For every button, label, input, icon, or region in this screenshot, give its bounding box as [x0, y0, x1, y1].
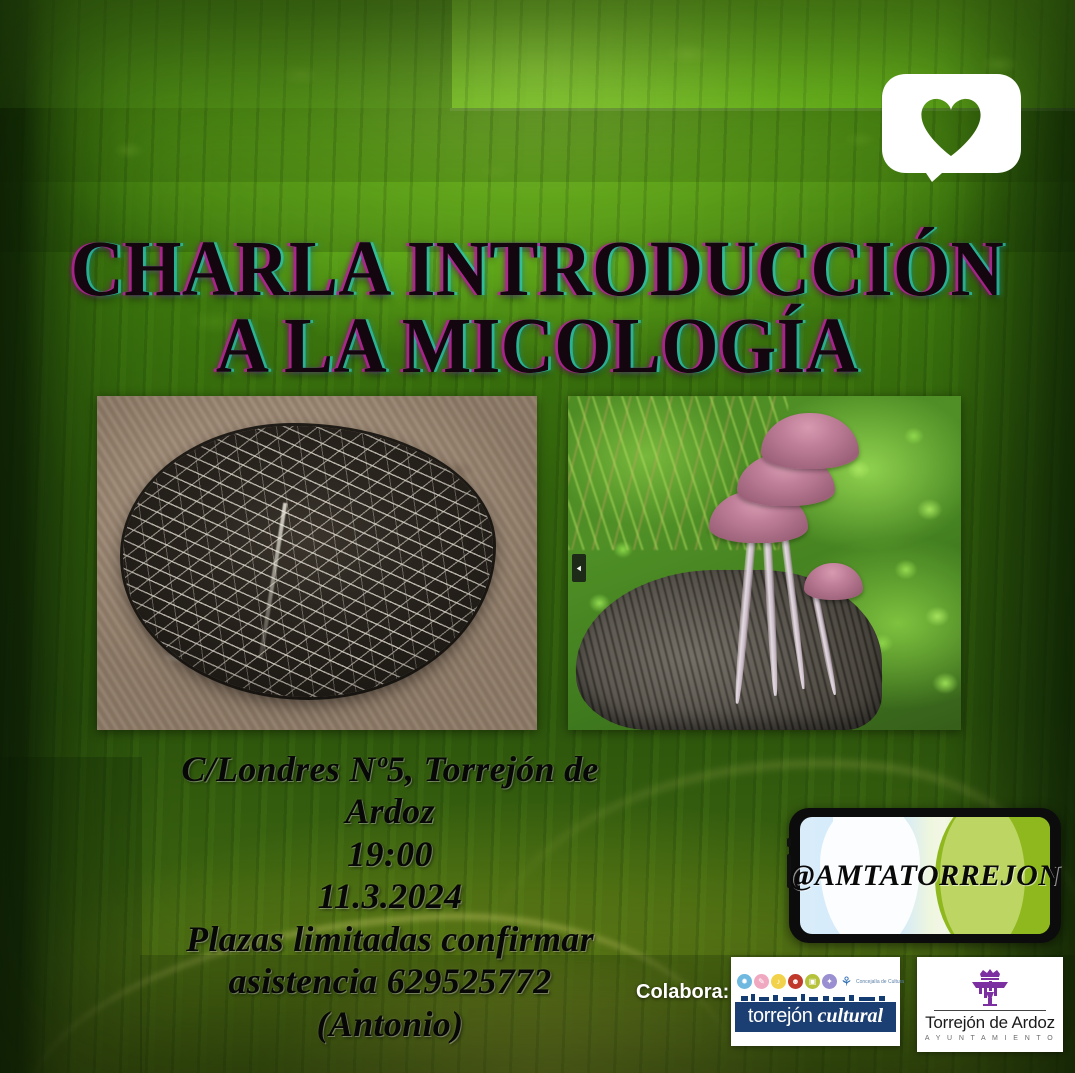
event-date: 11.3.2024 — [40, 875, 740, 917]
event-address-line-1: C/Londres Nº5, Torrejón de — [40, 748, 740, 790]
cultural-tagline: Concejalía de Cultura — [856, 979, 904, 985]
film-icon: ▣ — [805, 974, 820, 989]
crest-icon — [962, 968, 1018, 1008]
title-line-1: CHARLA INTRODUCCIÓN — [38, 234, 1038, 307]
cultural-word-torrejon: torrejón — [748, 1005, 813, 1028]
cultural-icon-row: ✹ ✎ ♪ ☻ ▣ ✦ ⚘ Concejalía de Cultura — [731, 972, 900, 993]
pink-mushrooms-photo — [568, 396, 961, 730]
star-icon: ✦ — [822, 974, 837, 989]
truffle-body — [123, 426, 493, 697]
globe-icon: ✹ — [737, 974, 752, 989]
ayuntamiento-subtitle: A Y U N T A M I E N T O — [925, 1035, 1055, 1042]
city-skyline-icon — [737, 993, 894, 1001]
ayuntamiento-divider — [934, 1010, 1046, 1011]
ayuntamiento-torrejon-de-ardoz-logo: Torrejón de Ardoz A Y U N T A M I E N T … — [917, 957, 1063, 1052]
event-details: C/Londres Nº5, Torrejón de Ardoz 19:00 1… — [40, 748, 740, 1045]
poster-canvas: CHARLA INTRODUCCIÓN A LA MICOLOGÍA — [0, 0, 1075, 1073]
pen-icon: ✎ — [754, 974, 769, 989]
event-contact-name: (Antonio) — [40, 1003, 740, 1045]
cultural-word-cultural: cultural — [818, 1005, 884, 1028]
title-line-2: A LA MICOLOGÍA — [38, 311, 1038, 384]
truffle-marbling-veins — [123, 426, 493, 697]
prev-arrow-icon[interactable] — [572, 554, 586, 582]
instagram-handle-card[interactable]: @AMTATORREJON — [789, 808, 1061, 943]
photo-row — [0, 396, 1075, 734]
event-time: 19:00 — [40, 833, 740, 875]
heart-in-speech-bubble-icon — [880, 72, 1023, 185]
colabora-label: Colabora: — [636, 981, 729, 1004]
cultural-wordmark: torrejón cultural — [735, 1002, 896, 1032]
event-address-line-2: Ardoz — [40, 790, 740, 832]
event-notice-line-2: asistencia 629525772 — [40, 960, 740, 1002]
ayuntamiento-city-name: Torrejón de Ardoz — [925, 1013, 1055, 1033]
dance-icon: ⚘ — [839, 974, 854, 989]
phone-button-top — [787, 838, 791, 847]
torrejon-cultural-logo: ✹ ✎ ♪ ☻ ▣ ✦ ⚘ Concejalía de Cultura torr… — [731, 957, 900, 1046]
event-notice-line-1: Plazas limitadas confirmar — [40, 918, 740, 960]
music-icon: ♪ — [771, 974, 786, 989]
instagram-handle-text: @AMTATORREJON — [789, 859, 1061, 893]
theatre-icon: ☻ — [788, 974, 803, 989]
page-title: CHARLA INTRODUCCIÓN A LA MICOLOGÍA — [0, 234, 1075, 383]
black-truffle-photo — [97, 396, 537, 730]
